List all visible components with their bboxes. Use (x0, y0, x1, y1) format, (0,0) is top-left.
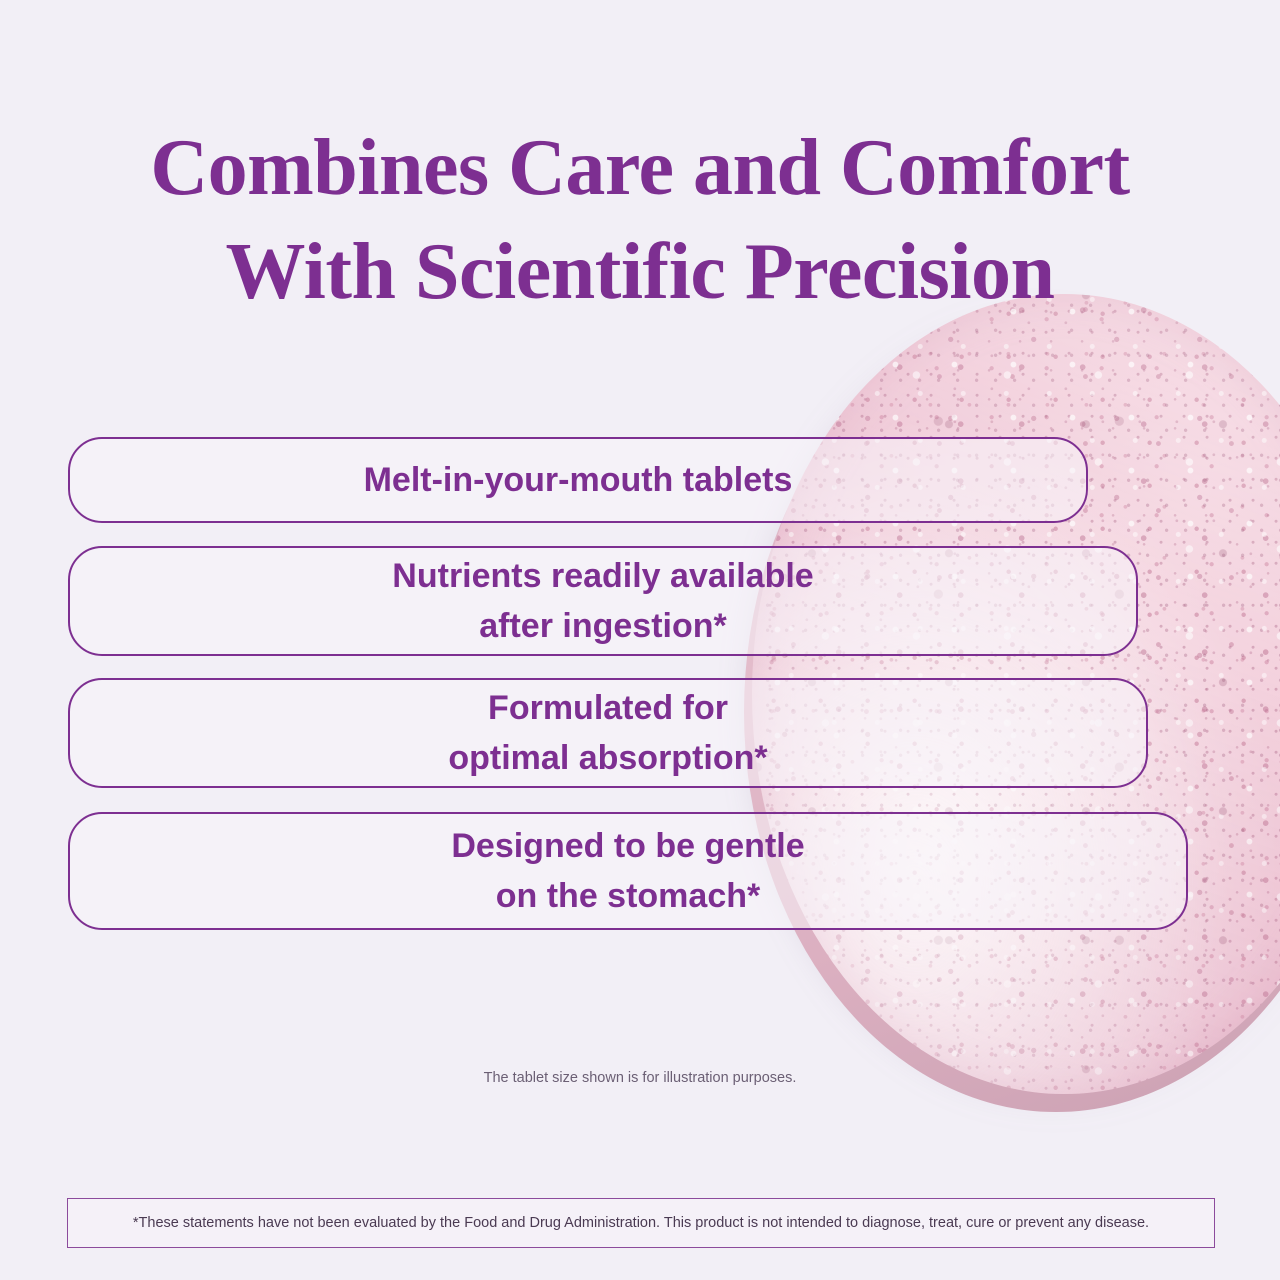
headline-line-1: Combines Care and Comfort (0, 116, 1280, 220)
feature-pill-gentle-on-stomach: Designed to be gentle on the stomach* (68, 812, 1188, 930)
fda-disclaimer-text: *These statements have not been evaluate… (133, 1215, 1149, 1231)
promo-canvas: Combines Care and Comfort With Scientifi… (0, 0, 1280, 1280)
feature-pill-label: Melt-in-your-mouth tablets (248, 455, 908, 505)
feature-pill-optimal-absorption: Formulated for optimal absorption* (68, 678, 1148, 788)
feature-pill-melt-in-your-mouth: Melt-in-your-mouth tablets (68, 437, 1088, 523)
feature-pill-label: Designed to be gentle on the stomach* (298, 821, 958, 921)
feature-pill-nutrients-available: Nutrients readily available after ingest… (68, 546, 1138, 656)
feature-pill-label: Nutrients readily available after ingest… (273, 551, 933, 651)
fda-disclaimer-box: *These statements have not been evaluate… (67, 1198, 1215, 1248)
feature-pill-label: Formulated for optimal absorption* (278, 683, 938, 783)
